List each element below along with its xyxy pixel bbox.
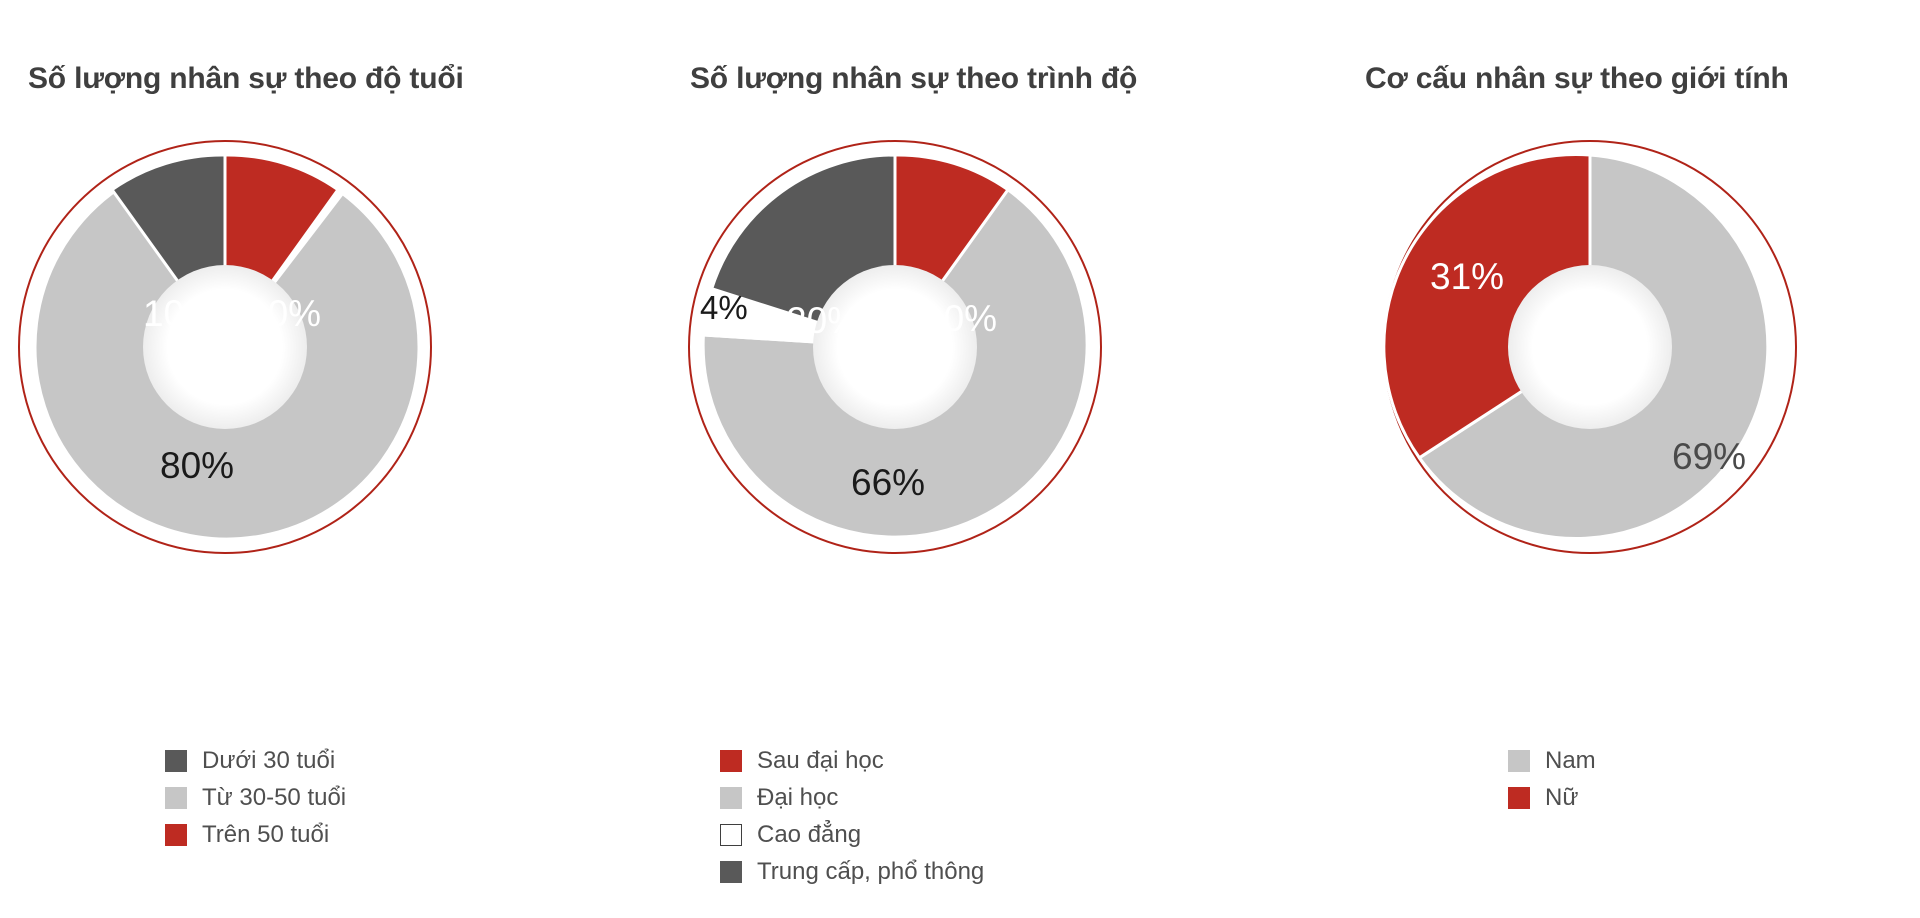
donut-hole [813,265,977,429]
page-title-education: Số lượng nhân sự theo trình độ [690,62,1137,96]
data-label-dai-hoc: 66% [851,462,925,504]
data-label-sau-dai-hoc: 10% [923,298,997,340]
chart-panel-age: Số lượng nhân sự theo độ tuổi 10% [0,0,640,918]
legend-label: Từ 30-50 tuổi [202,786,346,810]
legend-item[interactable]: Đại học [720,779,984,816]
legend-swatch-icon [720,824,742,846]
legend-item[interactable]: Nữ [1508,779,1596,816]
data-label-nam: 69% [1672,436,1746,478]
legend-swatch-icon [165,787,187,809]
legend-item[interactable]: Cao đẳng [720,816,984,853]
donut-svg-age [15,137,435,557]
legend-label: Trung cấp, phổ thông [757,860,984,884]
legend-item[interactable]: Trên 50 tuổi [165,816,346,853]
legend-education: Sau đại học Đại học Cao đẳng Trung cấp, … [720,742,984,890]
page-title-gender: Cơ cấu nhân sự theo giới tính [1365,62,1789,96]
chart-panel-education: Số lượng nhân sự theo trình độ [640,0,1280,918]
legend-swatch-icon [720,787,742,809]
donut-chart-education: 10% 66% 4% 20% [685,137,1105,557]
donut-hole [143,265,307,429]
data-label-trung-cap: 20% [786,300,860,342]
slide-canvas: Số lượng nhân sự theo độ tuổi 10% [0,0,1920,918]
legend-item[interactable]: Nam [1508,742,1596,779]
donut-hole [1508,265,1672,429]
legend-item[interactable]: Trung cấp, phổ thông [720,853,984,890]
page-title-age: Số lượng nhân sự theo độ tuổi [28,62,464,96]
donut-chart-age: 10% 80% 10% [15,137,435,557]
legend-swatch-icon [720,861,742,883]
data-label-under-30: 10% [143,293,217,335]
legend-age: Dưới 30 tuổi Từ 30-50 tuổi Trên 50 tuổi [165,742,346,853]
donut-svg-gender [1380,137,1800,557]
data-label-30-50: 80% [160,445,234,487]
legend-label: Đại học [757,786,838,810]
legend-item[interactable]: Dưới 30 tuổi [165,742,346,779]
legend-swatch-icon [165,750,187,772]
legend-label: Cao đẳng [757,823,861,847]
legend-label: Dưới 30 tuổi [202,749,335,773]
donut-chart-gender: 69% 31% [1380,137,1800,557]
legend-label: Sau đại học [757,749,884,773]
legend-swatch-icon [165,824,187,846]
legend-gender: Nam Nữ [1508,742,1596,816]
legend-swatch-icon [720,750,742,772]
legend-label: Nữ [1545,786,1578,810]
legend-swatch-icon [1508,750,1530,772]
legend-swatch-icon [1508,787,1530,809]
data-label-over-50: 10% [247,293,321,335]
legend-item[interactable]: Sau đại học [720,742,984,779]
legend-label: Trên 50 tuổi [202,823,329,847]
legend-label: Nam [1545,749,1596,773]
legend-item[interactable]: Từ 30-50 tuổi [165,779,346,816]
data-label-nu: 31% [1430,256,1504,298]
data-label-cao-dang: 4% [700,289,748,327]
chart-panel-gender: Cơ cấu nhân sự theo giới tính 69% 31% [1280,0,1920,918]
